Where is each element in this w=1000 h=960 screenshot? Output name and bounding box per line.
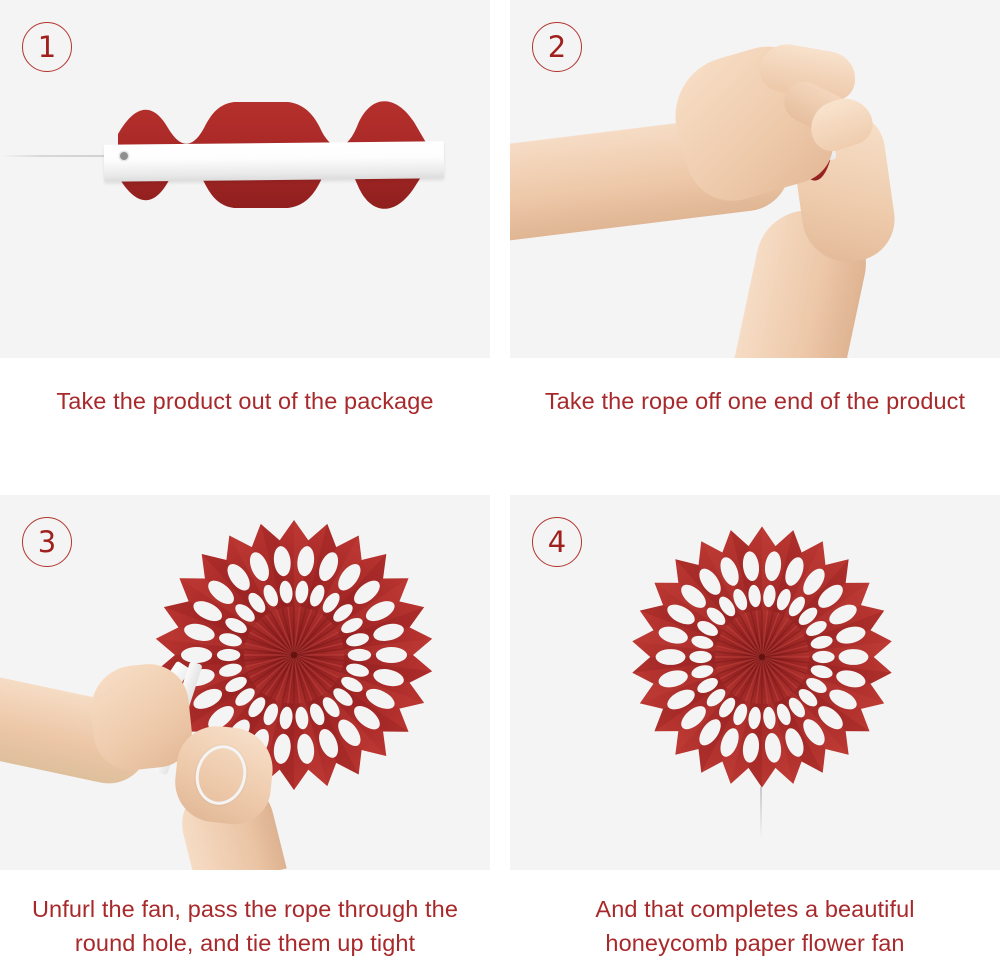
step-card-4: 4 And that completes a beautiful honeyco… <box>510 495 1000 960</box>
hanging-string <box>760 787 762 839</box>
grommet-hole <box>120 152 128 160</box>
step-caption-4: And that completes a beautiful honeycomb… <box>510 870 1000 960</box>
unfurling-fan-illustration <box>0 495 490 870</box>
step-card-1: 1 Take the prod <box>0 0 490 418</box>
hands-removing-rope-illustration <box>510 0 1000 358</box>
step-photo-1: 1 <box>0 0 490 358</box>
step-card-2: 2 <box>510 0 1000 418</box>
finished-fan-illustration <box>510 495 1000 870</box>
step-number-badge-4: 4 <box>532 517 582 567</box>
folded-fan-illustration <box>0 0 490 358</box>
step-photo-4: 4 <box>510 495 1000 870</box>
step-number-badge-3: 3 <box>22 517 72 567</box>
step-photo-2: 2 <box>510 0 1000 358</box>
step-caption-2: Take the rope off one end of the product <box>510 358 1000 418</box>
open-honeycomb-paper-fan <box>622 517 902 797</box>
rope-string <box>0 155 118 157</box>
step-number-badge-1: 1 <box>22 22 72 72</box>
step-card-3: 3 <box>0 495 490 960</box>
white-holder-strip <box>104 141 444 182</box>
step-photo-3: 3 <box>0 495 490 870</box>
instruction-sheet: 1 Take the prod <box>0 0 1000 956</box>
step-caption-1: Take the product out of the package <box>0 358 490 418</box>
step-caption-3: Unfurl the fan, pass the rope through th… <box>0 870 490 960</box>
step-number-badge-2: 2 <box>532 22 582 72</box>
